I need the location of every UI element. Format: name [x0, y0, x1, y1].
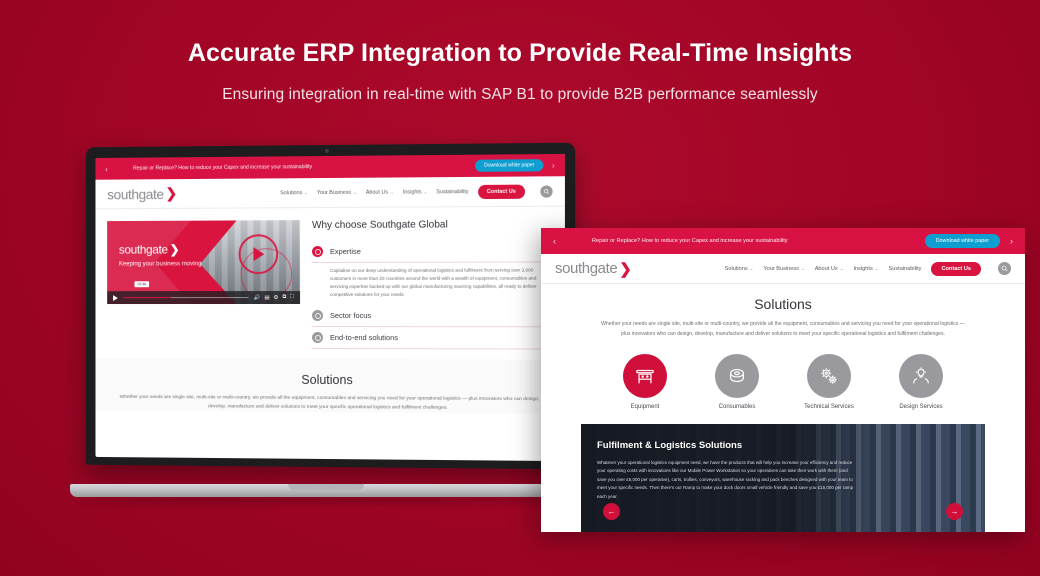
chevron-down-icon: ⌄: [353, 189, 357, 194]
chevron-down-icon: ⌄: [750, 266, 754, 271]
promo-bar: ‹ Repair or Replace? How to reduce your …: [541, 228, 1025, 254]
laptop-page-body: southgate❯ Keeping your business moving …: [95, 207, 564, 350]
logo-chevron-icon: ❯: [170, 243, 180, 257]
panel-solutions-section: Solutions Whether your needs are single …: [541, 284, 1025, 340]
workbench-icon: [623, 354, 667, 398]
chevron-down-icon: ⌄: [424, 189, 428, 194]
nav-item-sustainability[interactable]: Sustainability: [436, 189, 468, 195]
page-subtitle: Ensuring integration in real-time with S…: [0, 86, 1040, 104]
pip-icon[interactable]: ⧉: [282, 294, 286, 301]
webcam-icon: [325, 149, 329, 153]
hero-video-player[interactable]: southgate❯ Keeping your business moving …: [107, 220, 300, 304]
video-progress-bar[interactable]: [123, 297, 249, 299]
contact-us-button[interactable]: Contact Us: [478, 184, 525, 198]
carousel-next-button[interactable]: →: [946, 503, 963, 520]
logo-text: southgate: [107, 186, 164, 202]
settings-icon[interactable]: ⚙: [274, 295, 279, 301]
video-control-icons[interactable]: 🔊 ▤ ⚙ ⧉ ⛶: [254, 294, 294, 301]
laptop-base-notch: [288, 484, 364, 490]
video-controls-bar[interactable]: 🔊 ▤ ⚙ ⧉ ⛶: [107, 291, 300, 304]
laptop-shadow: [76, 496, 576, 503]
hands-idea-icon: [899, 354, 943, 398]
accordion-item-sector-focus[interactable]: Sector focus +: [312, 305, 553, 326]
accordion-item-expertise[interactable]: Expertise —: [312, 240, 553, 262]
accordion-body-expertise: Capitalise on our deep understanding of …: [312, 262, 553, 305]
laptop-lid: ‹ Repair or Replace? How to reduce your …: [86, 143, 575, 470]
feature-title: Fulfilment & Logistics Solutions: [597, 440, 856, 451]
logo[interactable]: southgate ❯: [107, 185, 177, 202]
category-label: Consumables: [706, 404, 768, 410]
why-choose-title: Why choose Southgate Global: [312, 219, 553, 231]
solutions-title: Solutions: [597, 296, 969, 312]
why-choose-section: Why choose Southgate Global Expertise — …: [312, 219, 553, 350]
chevron-down-icon: ⌄: [304, 190, 308, 195]
contact-us-button[interactable]: Contact Us: [931, 262, 981, 276]
category-equipment[interactable]: Equipment: [614, 354, 676, 410]
laptop-screen: ‹ Repair or Replace? How to reduce your …: [95, 154, 564, 461]
chevron-down-icon: ⌄: [390, 189, 394, 194]
nav-item-insights[interactable]: Insights⌄: [403, 189, 427, 195]
laptop-solutions-section: Solutions Whether your needs are single …: [95, 358, 564, 413]
tape-roll-icon: [715, 354, 759, 398]
chevron-down-icon: ⌄: [840, 266, 844, 271]
nav-item-solutions[interactable]: Solutions⌄: [280, 190, 308, 196]
nav-item-your-business[interactable]: Your Business⌄: [763, 266, 804, 272]
play-icon[interactable]: [253, 247, 264, 261]
chevron-down-icon: ⌄: [875, 266, 879, 271]
download-white-paper-button[interactable]: Download white paper: [925, 234, 1000, 248]
nav-item-insights[interactable]: Insights⌄: [853, 266, 878, 272]
feature-card: Fulfilment & Logistics Solutions Whateve…: [581, 424, 985, 532]
category-list: Equipment Consumables Technical Servic: [541, 354, 1025, 410]
promo-next-icon[interactable]: ›: [552, 161, 555, 170]
hero-text-block: Accurate ERP Integration to Provide Real…: [0, 38, 1040, 104]
download-white-paper-button[interactable]: Download white paper: [475, 159, 544, 172]
promo-bar: ‹ Repair or Replace? How to reduce your …: [95, 154, 564, 180]
solutions-text: Whether your needs are single site, mult…: [113, 393, 546, 414]
category-label: Technical Services: [798, 404, 860, 410]
nav-item-your-business[interactable]: Your Business⌄: [317, 189, 357, 195]
promo-text: Repair or Replace? How to reduce your Ca…: [116, 163, 467, 172]
video-tagline: Keeping your business moving: [119, 260, 202, 267]
logo-text: southgate: [555, 260, 617, 277]
site-navbar: southgate ❯ Solutions⌄ Your Business⌄ Ab…: [541, 254, 1025, 284]
divider: [312, 348, 553, 350]
category-consumables[interactable]: Consumables: [706, 354, 768, 410]
category-technical-services[interactable]: Technical Services: [798, 354, 860, 410]
sector-focus-icon: [312, 310, 323, 321]
accordion-label: Sector focus: [330, 311, 541, 320]
search-icon[interactable]: [998, 262, 1011, 275]
logo-chevron-icon: ❯: [166, 185, 177, 202]
play-icon[interactable]: [113, 295, 118, 301]
logo-chevron-icon: ❯: [619, 260, 631, 278]
search-icon[interactable]: [540, 185, 552, 197]
promo-text: Repair or Replace? How to reduce your Ca…: [566, 238, 915, 244]
browser-panel: ‹ Repair or Replace? How to reduce your …: [541, 228, 1025, 532]
accordion-label: End-to-end solutions: [330, 333, 541, 342]
nav-item-solutions[interactable]: Solutions⌄: [725, 266, 754, 272]
laptop-base: [70, 484, 582, 497]
nav-item-sustainability[interactable]: Sustainability: [889, 266, 922, 272]
promo-prev-icon[interactable]: ‹: [105, 164, 108, 173]
promo-next-icon[interactable]: ›: [1010, 236, 1013, 246]
laptop-mockup: ‹ Repair or Replace? How to reduce your …: [70, 145, 582, 505]
carousel-prev-button[interactable]: ←: [603, 503, 620, 520]
volume-icon[interactable]: 🔊: [254, 295, 261, 301]
solutions-text: Whether your needs are single site, mult…: [597, 320, 969, 340]
nav-item-about-us[interactable]: About Us⌄: [815, 266, 844, 272]
promo-prev-icon[interactable]: ‹: [553, 236, 556, 246]
feature-content: Fulfilment & Logistics Solutions Whateve…: [581, 424, 872, 502]
category-design-services[interactable]: Design Services: [890, 354, 952, 410]
gears-icon: [807, 354, 851, 398]
expertise-icon: [312, 246, 323, 257]
page-title: Accurate ERP Integration to Provide Real…: [0, 38, 1040, 68]
category-label: Equipment: [614, 404, 676, 410]
video-duration-badge: 02:46: [134, 281, 149, 287]
logo[interactable]: southgate ❯: [555, 260, 631, 278]
captions-icon[interactable]: ▤: [264, 295, 269, 301]
nav-links: Solutions⌄ Your Business⌄ About Us⌄ Insi…: [280, 184, 552, 200]
accordion-item-end-to-end[interactable]: End-to-end solutions +: [312, 327, 553, 349]
end-to-end-icon: [312, 332, 323, 343]
category-label: Design Services: [890, 404, 952, 410]
chevron-down-icon: ⌄: [801, 266, 805, 271]
feature-text: Whatever your operational logistics equi…: [597, 459, 856, 502]
accordion-label: Expertise: [330, 246, 537, 256]
solutions-title: Solutions: [113, 372, 546, 388]
video-logo: southgate❯: [119, 243, 179, 257]
fullscreen-icon[interactable]: ⛶: [290, 294, 294, 301]
nav-item-about-us[interactable]: About Us⌄: [366, 189, 394, 195]
site-navbar: southgate ❯ Solutions⌄ Your Business⌄ Ab…: [95, 176, 564, 209]
nav-links: Solutions⌄ Your Business⌄ About Us⌄ Insi…: [725, 262, 1011, 276]
